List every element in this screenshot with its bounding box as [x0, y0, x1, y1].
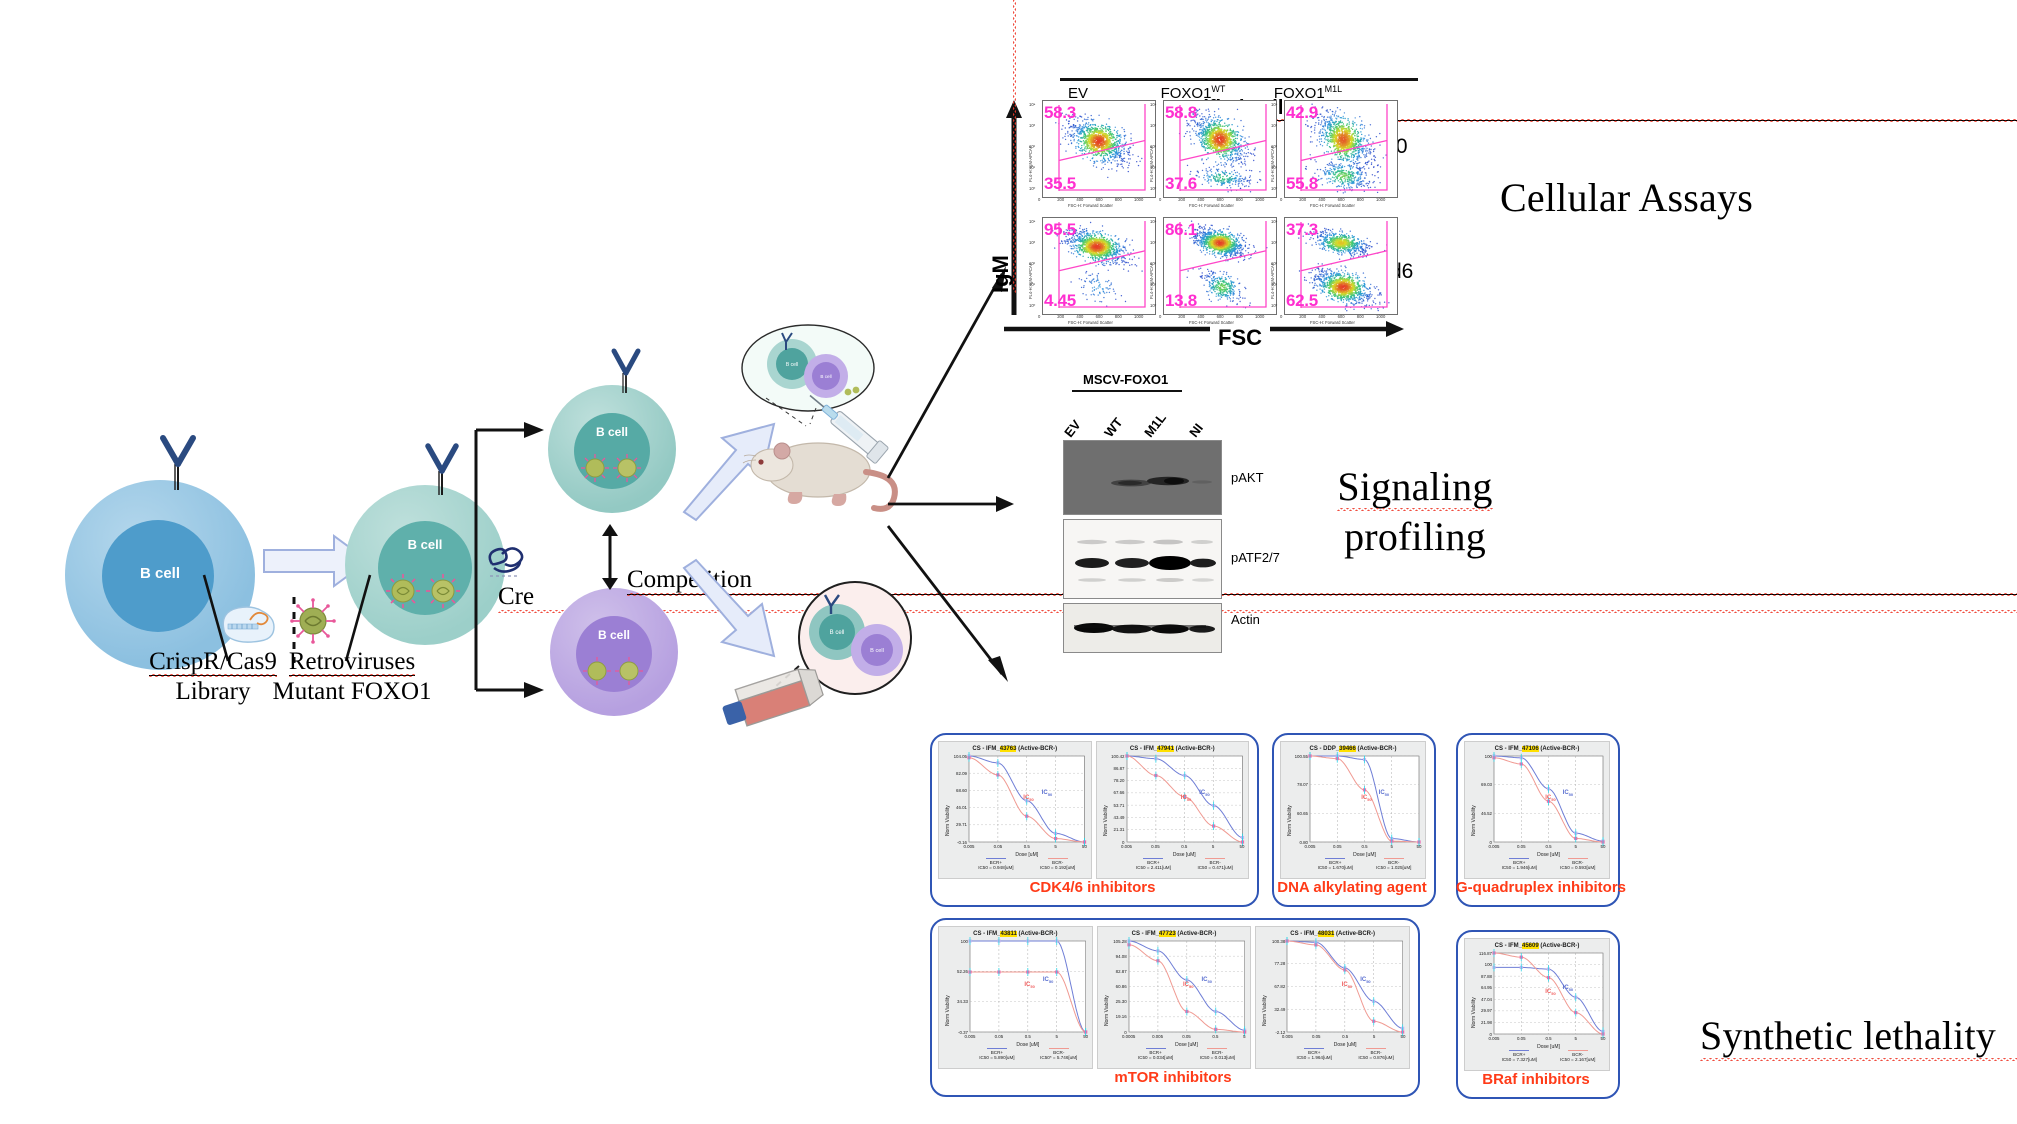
flow-x-tick: 800 [1115, 314, 1122, 319]
plot-y-tick: 43.49 [1097, 815, 1125, 820]
plot-x-tick: 5 [1380, 844, 1404, 849]
bcr-receptor-icon [419, 441, 465, 497]
dose-response-plot-dna-1: CS - DDP_39466 (Active-BCR-)IC50IC50100.… [1280, 741, 1426, 879]
plot-x-tick: 0.5 [1016, 1034, 1040, 1039]
flow-x-tick: 600 [1217, 197, 1224, 202]
plot-y-tick: 100.55 [1281, 754, 1308, 759]
flow-gate-percent-upper: 86.1 [1165, 220, 1197, 240]
retrovirus-caption: Retroviruses Mutant FOXO1 [252, 647, 452, 707]
flow-panel-y-label: FL4-H: IgM-APCA7 [1149, 146, 1154, 182]
flow-y-tick: 10⁴ [1271, 219, 1277, 224]
flow-x-tick: 200 [1178, 197, 1185, 202]
plot-y-tick: 86.87 [1097, 766, 1125, 771]
svg-text:B cell: B cell [786, 362, 798, 368]
plot-y-tick: 105.28 [1098, 939, 1127, 944]
retrovirus-caption-line1: Retroviruses [289, 648, 415, 676]
ic50-marker-bcr-neg: IC50 [1361, 795, 1371, 802]
plot-y-tick: 53.71 [1097, 803, 1125, 808]
flow-x-tick: 600 [1096, 314, 1103, 319]
flow-gate-percent-lower: 35.5 [1044, 174, 1076, 194]
flow-y-tick: 10⁰ [1271, 303, 1277, 308]
flow-x-tick: 600 [1338, 197, 1345, 202]
ic50-marker-bcr-neg: IC50 [1183, 982, 1193, 989]
flow-x-tick: 400 [1318, 314, 1325, 319]
flow-x-tick: 1000 [1255, 197, 1264, 202]
flow-x-axis-label: FSC [1210, 325, 1270, 351]
plot-x-tick: 0.005 [1275, 1034, 1299, 1039]
flow-gate-percent-upper: 42.9 [1286, 103, 1318, 123]
plot-x-tick: 0.05 [1174, 1034, 1198, 1039]
plot-y-tick: 64.95 [1465, 985, 1492, 990]
plot-legend: BCR+IC50 = 1.670[uM]BCR-IC50 = 1.025[uM] [1306, 858, 1423, 870]
plot-x-tick: 50 [1074, 1034, 1098, 1039]
plot-y-tick: 32.49 [1256, 1007, 1285, 1012]
dose-response-plot-braf-1: CS - IFM_45609 (Active-BCR-)IC50IC50116.… [1464, 938, 1610, 1071]
plot-y-tick: 100.38 [1256, 939, 1285, 944]
flow-gate-percent-lower: 37.6 [1165, 174, 1197, 194]
plot-y-tick: 21.31 [1097, 827, 1125, 832]
plot-x-tick: 5 [1045, 1034, 1069, 1039]
flow-group-header-rule [1060, 78, 1418, 81]
dose-response-plot-cdk-1: CS - IFM_43763 (Active-BCR-)IC50IC50104.… [938, 741, 1092, 879]
flow-x-tick: 200 [1057, 314, 1064, 319]
dose-response-plot-gq-1: CS - IFM_47106 (Active-BCR-)IC50IC501006… [1464, 741, 1610, 879]
cre-enzyme-icon [484, 540, 524, 582]
flow-x-tick: 1000 [1134, 197, 1143, 202]
flow-x-tick: 0 [1280, 314, 1282, 319]
dose-response-plot-mtor-2: CS - IFM_47723 (Active-BCR-)IC50IC50105.… [1097, 926, 1252, 1069]
blot-lane-label-wt: WT [1101, 415, 1125, 440]
flow-gate-percent-lower: 55.8 [1286, 174, 1318, 194]
flow-x-tick: 600 [1096, 197, 1103, 202]
blot-row-patf27 [1063, 519, 1222, 599]
plot-y-axis-label: Norm Viability [945, 995, 951, 1026]
plot-y-tick: 67.82 [1256, 984, 1285, 989]
plot-y-axis-label: Norm Viability [1287, 805, 1293, 836]
flow-x-tick: 1000 [1376, 314, 1385, 319]
plot-y-tick: 100.42 [1097, 754, 1125, 759]
plot-x-tick: 0.05 [1143, 844, 1167, 849]
plot-y-tick: 94.08 [1098, 954, 1127, 959]
b-cell-purple-group: B cell [550, 588, 678, 716]
plot-legend: BCR+IC50 = 0.948[uM]BCR-IC50 = 0.192[uM] [965, 858, 1089, 870]
competition-double-arrow-icon [597, 524, 623, 590]
plot-x-tick: 5 [1362, 1034, 1386, 1039]
plot-x-tick: 5 [1564, 1036, 1588, 1041]
flow-panel-y-label: FL4-H: IgM-APCA7 [1149, 263, 1154, 299]
plot-y-tick: 82.09 [939, 771, 967, 776]
plot-y-axis-label: Norm Viability [1262, 995, 1268, 1026]
flow-x-tick: 800 [1357, 314, 1364, 319]
plot-y-axis-label: Norm Viability [1104, 995, 1110, 1026]
ic50-marker-bcr-neg: IC50 [1024, 982, 1034, 989]
flow-panel-x-label: FSC-H: Forward Scatter [1310, 320, 1355, 325]
plot-y-axis-label: Norm Viability [1471, 997, 1477, 1028]
plot-y-tick: 104.05 [939, 754, 967, 759]
plot-x-tick: 0.5 [1333, 1034, 1357, 1039]
b-cell-green-group: B cell [548, 385, 676, 513]
legend-bcr-neg: BCR-IC50 = 0.876[uM] [1345, 1048, 1407, 1060]
flow-x-tick: 200 [1299, 197, 1306, 202]
flow-panel-y-label: FL4-H: IgM-APCA7 [1028, 263, 1033, 299]
flow-y-tick: 10³ [1271, 123, 1277, 128]
b-cell-green-label: B cell [548, 425, 676, 439]
flow-x-tick: 600 [1338, 314, 1345, 319]
dose-response-plot-mtor-3: CS - IFM_48031 (Active-BCR-)IC50IC50100.… [1255, 926, 1410, 1069]
blot-lane-label-m1l: M1L [1141, 410, 1169, 440]
plot-y-tick: 19.16 [1098, 1014, 1127, 1019]
legend-bcr-pos: BCR+IC50 = 0.034[uM] [1125, 1048, 1187, 1060]
flow-panel-grid: 58.335.502004006008001000FSC-H: Forward … [1020, 100, 1420, 315]
plot-legend: BCR+IC50 = 1.946[uM]BCR-IC50 = 0.593[uM] [1490, 858, 1607, 870]
plot-x-tick: 50 [1073, 844, 1097, 849]
legend-bcr-pos: BCR+IC50 = 1.946[uM] [1490, 858, 1549, 870]
flow-x-tick: 0 [1038, 197, 1040, 202]
plot-x-tick: 0.005 [1482, 844, 1506, 849]
plot-y-axis-label: Norm Viability [945, 805, 951, 836]
ic50-marker-bcr-pos: IC50 [1563, 985, 1573, 992]
flow-y-tick: 10⁰ [1029, 303, 1035, 308]
plot-x-tick: 0.05 [1304, 1034, 1328, 1039]
plot-y-tick: 87.88 [1465, 974, 1492, 979]
flow-gate-percent-lower: 62.5 [1286, 291, 1318, 311]
plot-x-tick: 0.05 [1509, 1036, 1533, 1041]
legend-bcr-neg: BCR-IC50 = 0.013[uM] [1186, 1048, 1248, 1060]
plot-y-tick: 78.20 [1097, 778, 1125, 783]
plot-x-tick: 0.005 [957, 844, 981, 849]
flow-y-tick: 10⁴ [1150, 219, 1156, 224]
plot-y-tick: 60.86 [1098, 984, 1127, 989]
ic50-marker-bcr-pos: IC50 [1360, 977, 1370, 984]
plot-x-tick: 0.05 [986, 844, 1010, 849]
ic50-marker-bcr-neg: IC50 [1023, 795, 1033, 802]
plot-x-tick: 0.005 [1146, 1034, 1170, 1039]
blot-row-pakt [1063, 440, 1222, 515]
plot-x-tick: 50 [1391, 1034, 1415, 1039]
plot-legend: BCR+IC50 = 0.034[uM]BCR-IC50 = 0.013[uM] [1125, 1048, 1249, 1060]
flow-x-tick: 800 [1236, 314, 1243, 319]
ic50-marker-bcr-pos: IC50 [1043, 977, 1053, 984]
flow-panel-x-label: FSC-H: Forward Scatter [1189, 320, 1234, 325]
blot-group-header: MSCV-FOXO1 [1083, 372, 1168, 387]
flow-y-tick: 10⁰ [1150, 186, 1156, 191]
crispr-cas9-icon [216, 600, 278, 644]
plot-y-tick: 82.87 [1098, 969, 1127, 974]
signaling-line2: profiling [1344, 514, 1486, 559]
flow-y-tick: 10⁰ [1271, 186, 1277, 191]
virus-particles-icon [579, 453, 647, 483]
flow-y-tick: 10³ [1029, 240, 1035, 245]
dose-response-plot-cdk-2: CS - IFM_47941 (Active-BCR-)IC50IC50100.… [1096, 741, 1250, 879]
blot-row-label-patf27: pATF2/7 [1231, 550, 1280, 565]
plot-x-tick: 0.05 [1509, 844, 1533, 849]
flow-y-tick: 10³ [1029, 123, 1035, 128]
crispr-caption-line2: Library [176, 678, 251, 705]
plot-y-tick: 29.97 [1465, 1008, 1492, 1013]
legend-bcr-neg: BCR-IC50 = 0.192[uM] [1027, 858, 1089, 870]
flow-gate-percent-upper: 37.3 [1286, 220, 1318, 240]
plot-legend: BCR+IC50 = 2.411[uM]BCR-IC50 = 0.471[uM] [1123, 858, 1247, 870]
svg-text:B cell: B cell [830, 630, 845, 636]
bcr-receptor-icon [606, 347, 646, 395]
flow-gate-percent-upper: 58.3 [1044, 103, 1076, 123]
plot-y-tick: 77.28 [1256, 961, 1285, 966]
flow-gate-percent-lower: 13.8 [1165, 291, 1197, 311]
plot-y-tick: 46.01 [939, 805, 967, 810]
flow-x-tick: 1000 [1376, 197, 1385, 202]
flow-panel-x-label: FSC-H: Forward Scatter [1189, 203, 1234, 208]
synthetic-lethality-label-mtor-inhibitors: mTOR inhibitors [930, 1069, 1416, 1086]
plot-y-tick: 21.98 [1465, 1020, 1492, 1025]
ic50-marker-bcr-pos: IC50 [1199, 790, 1209, 797]
plot-x-tick: 0.005 [1482, 1036, 1506, 1041]
ic50-marker-bcr-pos: IC50 [1202, 977, 1212, 984]
flow-x-tick: 200 [1057, 197, 1064, 202]
blot-lane-label-ni: NI [1186, 421, 1206, 440]
plot-x-tick: 50 [1591, 1036, 1615, 1041]
flow-panel-x-label: FSC-H: Forward Scatter [1068, 203, 1113, 208]
dose-response-plot-mtor-1: CS - IFM_43811 (Active-BCR-)IC50IC501005… [938, 926, 1093, 1069]
flow-y-tick: 10⁰ [1029, 186, 1035, 191]
flow-y-axis-label: IgM [988, 0, 1014, 293]
flow-x-tick: 800 [1236, 197, 1243, 202]
ic50-marker-bcr-neg: IC50 [1181, 795, 1191, 802]
flow-panel-y-label: FL4-H: IgM-APCA7 [1270, 263, 1275, 299]
plot-y-axis-label: Norm Viability [1471, 805, 1477, 836]
plot-x-tick: 50 [1591, 844, 1615, 849]
flow-gate-percent-lower: 4.45 [1044, 291, 1076, 311]
flow-x-tick: 1000 [1255, 314, 1264, 319]
retrovirus-caption-line2: Mutant FOXO1 [272, 678, 431, 705]
plot-legend: BCR+IC50 = 1.964[uM]BCR-IC50 = 0.876[uM] [1283, 1048, 1407, 1060]
plot-y-axis-label: Norm Viability [1103, 805, 1109, 836]
ic50-marker-bcr-neg: IC50 [1545, 795, 1555, 802]
plot-x-tick: 0.005 [958, 1034, 982, 1039]
flow-x-tick: 800 [1357, 197, 1364, 202]
flow-y-tick: 10³ [1271, 240, 1277, 245]
legend-bcr-pos: BCR+IC50 = 0.948[uM] [965, 858, 1027, 870]
plot-y-tick: 46.52 [1465, 811, 1492, 816]
plot-y-tick: 116.87 [1465, 951, 1492, 956]
ic50-marker-bcr-neg: IC50 [1342, 982, 1352, 989]
synthetic-lethality-label-cdk46-inhibitors: CDK4/6 inhibitors [930, 879, 1255, 896]
legend-bcr-neg: BCR-IC50 = 1.025[uM] [1365, 858, 1424, 870]
plot-y-tick: 100 [939, 939, 968, 944]
plot-x-tick: 0.0005 [1117, 1034, 1141, 1039]
plot-x-tick: 0.5 [1353, 844, 1377, 849]
legend-bcr-neg: BCR-IC50 = 2.167[uM] [1549, 1050, 1608, 1062]
plot-y-tick: 78.07 [1281, 782, 1308, 787]
flow-x-tick: 800 [1115, 197, 1122, 202]
plot-x-tick: 0.005 [1298, 844, 1322, 849]
flow-y-tick: 10³ [1150, 123, 1156, 128]
flow-x-tick: 600 [1217, 314, 1224, 319]
flow-y-tick: 10³ [1150, 240, 1156, 245]
plot-legend: BCR+IC50 = 7.327[uM]BCR-IC50 = 2.167[uM] [1490, 1050, 1607, 1062]
ic50-marker-bcr-pos: IC50 [1563, 790, 1573, 797]
flow-gate-percent-upper: 95.5 [1044, 220, 1076, 240]
flow-panel-x-label: FSC-H: Forward Scatter [1310, 203, 1355, 208]
ic50-marker-bcr-neg: IC50 [1545, 989, 1555, 996]
plot-x-tick: 5 [1044, 844, 1068, 849]
plot-y-tick: 100 [1465, 754, 1492, 759]
plot-y-tick: 100 [1465, 962, 1492, 967]
plot-x-tick: 0.5 [1015, 844, 1039, 849]
plot-y-tick: 68.60 [939, 788, 967, 793]
plot-x-tick: 0.5 [1172, 844, 1196, 849]
flow-y-tick: 10⁰ [1150, 303, 1156, 308]
bcr-receptor-icon [153, 432, 203, 492]
flow-x-tick: 400 [1197, 314, 1204, 319]
legend-bcr-pos: BCR+IC50 = 7.327[uM] [1490, 1050, 1549, 1062]
plot-x-tick: 0.5 [1537, 1036, 1561, 1041]
plot-x-tick: 50 [1230, 844, 1254, 849]
legend-bcr-pos: BCR+IC50 = 1.670[uM] [1306, 858, 1365, 870]
legend-bcr-neg: BCR-IC50* = 5.746[uM] [1028, 1048, 1090, 1060]
plot-y-tick: 29.71 [939, 822, 967, 827]
plot-x-tick: 0.5 [1203, 1034, 1227, 1039]
b-cell-purple-label: B cell [550, 628, 678, 642]
plot-x-tick: 5 [1564, 844, 1588, 849]
section-heading-synthetic-lethality: Synthetic lethality [1700, 1012, 2017, 1059]
plot-x-tick: 5 [1232, 1034, 1256, 1039]
synthetic-lethality-label-dna-alkylating-agent: DNA alkylating agent [1272, 879, 1432, 896]
plot-y-tick: 34.33 [939, 999, 968, 1004]
plot-y-tick: 25.30 [1098, 999, 1127, 1004]
plot-x-tick: 0.005 [1115, 844, 1139, 849]
flow-panel-x-label: FSC-H: Forward Scatter [1068, 320, 1113, 325]
svg-text:B cell: B cell [820, 374, 831, 379]
flow-x-tick: 400 [1076, 197, 1083, 202]
plot-y-tick: 47.04 [1465, 997, 1492, 1002]
legend-bcr-neg: BCR-IC50 = 0.593[uM] [1549, 858, 1608, 870]
plot-x-tick: 0.05 [987, 1034, 1011, 1039]
flow-x-tick: 1000 [1134, 314, 1143, 319]
legend-bcr-pos: BCR+IC50 = 5.890[uM] [966, 1048, 1028, 1060]
legend-bcr-pos: BCR+IC50 = 1.964[uM] [1283, 1048, 1345, 1060]
flow-y-tick: 10⁴ [1150, 102, 1156, 107]
plot-y-tick: 67.66 [1097, 790, 1125, 795]
virus-particles-icon [581, 656, 649, 686]
plot-y-tick: 52.26 [939, 969, 968, 974]
plot-x-tick: 5 [1201, 844, 1225, 849]
legend-bcr-pos: BCR+IC50 = 2.411[uM] [1123, 858, 1185, 870]
blot-row-label-pakt: pAKT [1231, 470, 1264, 485]
retrovirus-icon [290, 598, 336, 644]
plot-x-tick: 0.05 [1325, 844, 1349, 849]
synthetic-lethality-label-braf-inhibitors: BRaf inhibitors [1456, 1071, 1616, 1088]
blot-row-actin [1063, 603, 1222, 653]
flow-x-tick: 200 [1299, 314, 1306, 319]
flow-y-tick: 10⁴ [1029, 102, 1035, 107]
flow-y-tick: 10⁴ [1029, 219, 1035, 224]
flow-panel-y-label: FL4-H: IgM-APCA7 [1028, 146, 1033, 182]
flow-x-tick: 400 [1197, 197, 1204, 202]
plot-x-tick: 0.5 [1537, 844, 1561, 849]
blot-row-label-actin: Actin [1231, 612, 1260, 627]
flow-x-tick: 400 [1318, 197, 1325, 202]
blot-group-header-rule [1072, 390, 1182, 392]
section-heading-signaling-profiling: Signaling profiling [1305, 462, 1525, 562]
flow-x-tick: 200 [1178, 314, 1185, 319]
flow-y-tick: 10⁴ [1271, 102, 1277, 107]
plot-x-tick: 50 [1407, 844, 1431, 849]
flow-x-tick: 0 [1159, 314, 1161, 319]
ic50-marker-bcr-pos: IC50 [1379, 790, 1389, 797]
plot-legend: BCR+IC50 = 5.890[uM]BCR-IC50* = 5.746[uM… [966, 1048, 1090, 1060]
flow-x-tick: 0 [1159, 197, 1161, 202]
flow-panel-y-label: FL4-H: IgM-APCA7 [1270, 146, 1275, 182]
section-heading-cellular-assays: Cellular Assays [1500, 174, 1753, 221]
ic50-marker-bcr-pos: IC50 [1042, 790, 1052, 797]
plot-y-tick: 69.03 [1465, 782, 1492, 787]
flow-gate-percent-upper: 58.8 [1165, 103, 1197, 123]
flow-x-tick: 0 [1038, 314, 1040, 319]
legend-bcr-neg: BCR-IC50 = 0.471[uM] [1184, 858, 1246, 870]
synthetic-lethality-label-g-quadruplex-inhibitors: G-quadruplex inhibitors [1456, 879, 1616, 896]
flow-x-tick: 0 [1280, 197, 1282, 202]
signaling-line1: Signaling [1337, 464, 1492, 509]
plot-y-tick: 60.65 [1281, 811, 1308, 816]
flow-x-tick: 400 [1076, 314, 1083, 319]
